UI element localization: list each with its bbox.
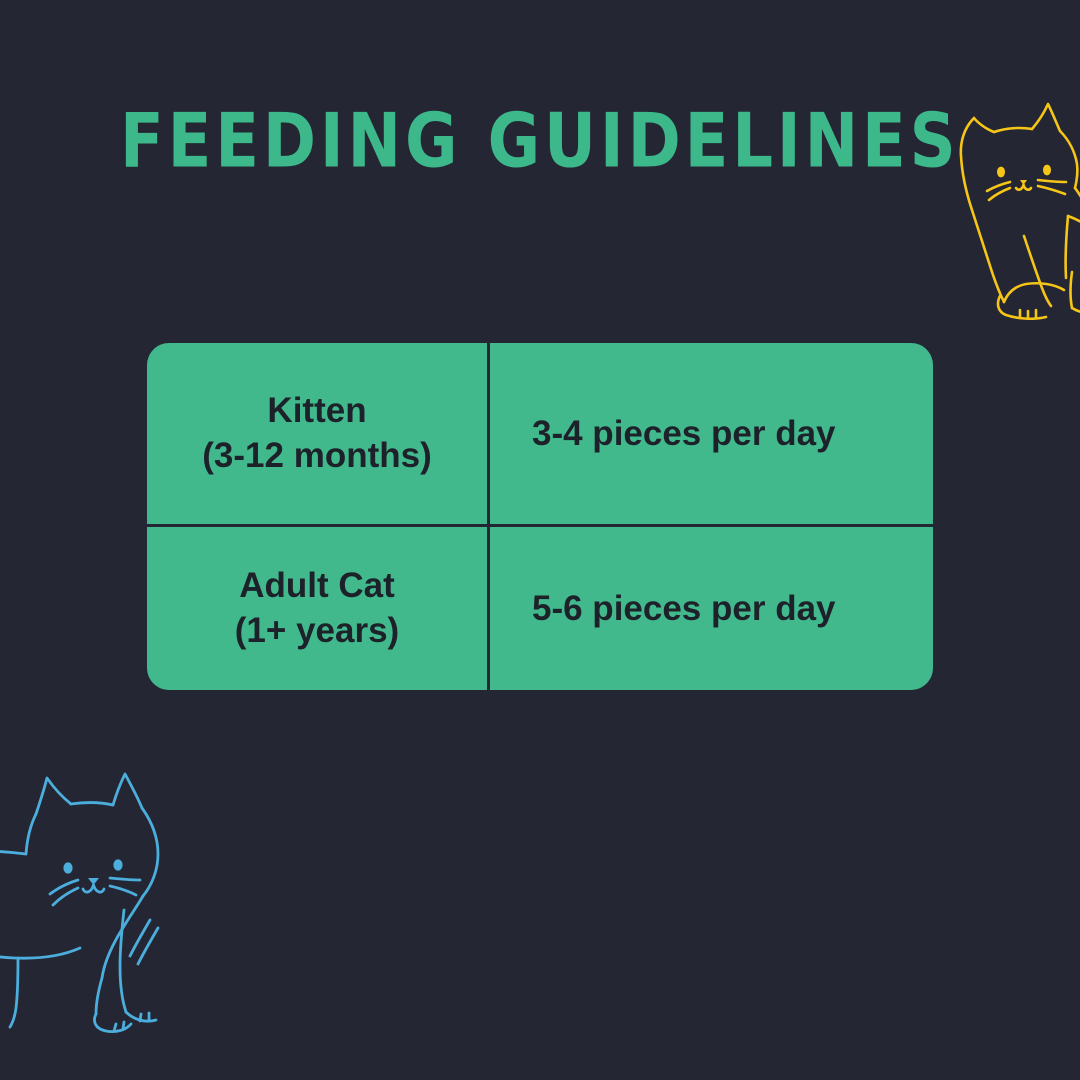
table-row-value-kitten: 3-4 pieces per day <box>490 343 933 524</box>
table-row-label-adult: Adult Cat (1+ years) <box>147 527 487 690</box>
row-label-line1: Kitten <box>267 389 366 434</box>
feeding-guidelines-graphic: FEEDING GUIDELINES Kitten (3-12 months) … <box>0 0 1080 1080</box>
table-row-value-adult: 5-6 pieces per day <box>490 527 933 690</box>
row-value-text: 5-6 pieces per day <box>532 587 836 631</box>
row-label-line2: (3-12 months) <box>202 434 431 479</box>
walking-cat-icon <box>0 752 218 1042</box>
row-value-text: 3-4 pieces per day <box>532 412 836 456</box>
table-row-label-kitten: Kitten (3-12 months) <box>147 343 487 524</box>
feeding-guidelines-table: Kitten (3-12 months) 3-4 pieces per day … <box>147 343 933 690</box>
row-label-line1: Adult Cat <box>239 564 395 609</box>
page-title-text: FEEDING GUIDELINES <box>120 104 960 179</box>
row-label-line2: (1+ years) <box>235 609 399 654</box>
page-title: FEEDING GUIDELINES <box>0 104 1080 170</box>
